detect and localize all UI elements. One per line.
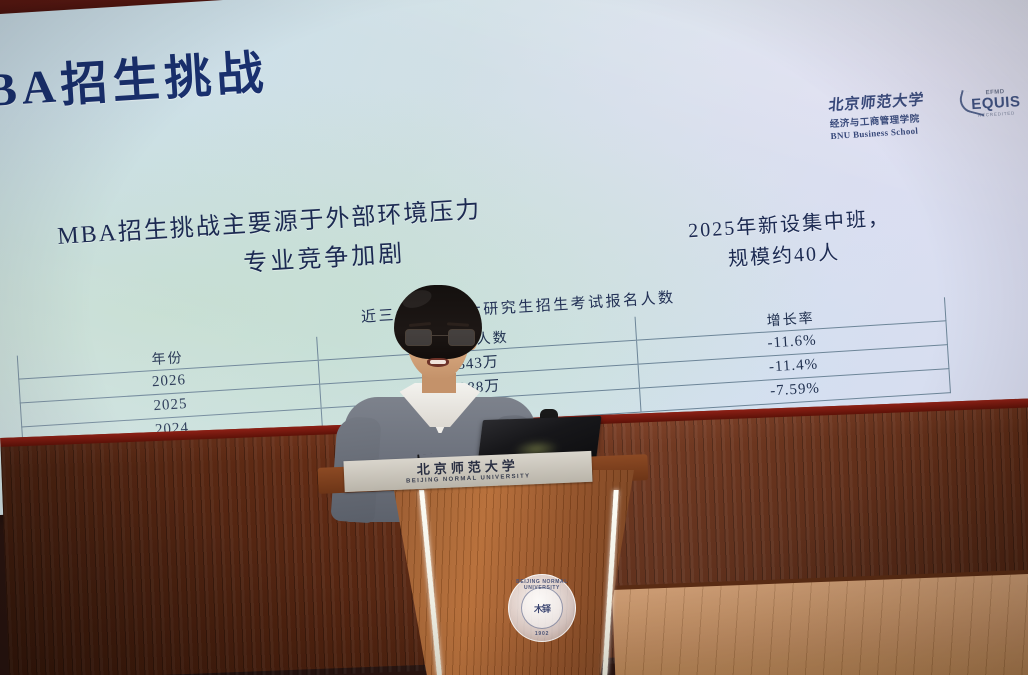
glasses-lens (405, 329, 432, 346)
speaker-hair (394, 285, 482, 359)
emblem-year-text: 1902 (509, 631, 575, 637)
podium: 北京师范大学 BEIJING NORMAL UNIVERSITY BEIJING… (318, 452, 718, 675)
emblem-top-text: BEIJING NORMAL UNIVERSITY (509, 579, 575, 591)
slide-lead-line-2: 专业竞争加剧 (242, 233, 406, 278)
glasses-bridge (430, 335, 448, 336)
slide-note-line-2: 规模约40人 (727, 236, 841, 272)
slide-note-line-1: 2025年新设集中班， (687, 202, 890, 244)
university-emblem-icon: BEIJING NORMAL UNIVERSITY 木铎 1902 (508, 574, 576, 642)
emblem-inner-ring: 木铎 (521, 587, 563, 629)
speaker-mouth (427, 358, 449, 367)
equis-accreditation-logo: EFMD EQUIS ACCREDITED (960, 88, 1028, 119)
glasses-lens (448, 329, 475, 346)
glasses-icon (404, 329, 474, 344)
slide-title: MBA招生挑战 (0, 33, 270, 123)
screenshot-root: MBA招生挑战 北京师范大学 经济与工商管理学院 BNU Business Sc… (0, 0, 1028, 675)
podium-wood-grain (354, 470, 634, 675)
emblem-glyph: 木铎 (534, 602, 550, 615)
